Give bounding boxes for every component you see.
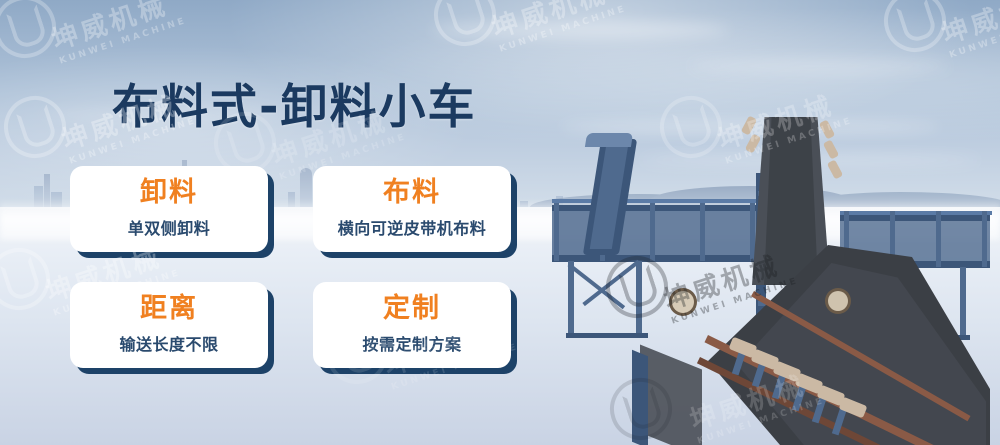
feature-card-customization[interactable]: 定制 按需定制方案 — [313, 282, 511, 368]
feature-card-subtitle: 单双侧卸料 — [128, 215, 211, 239]
feature-card-unloading[interactable]: 卸料 单双侧卸料 — [70, 166, 268, 252]
machine-photograph — [540, 95, 1000, 445]
feature-card-title: 布料 — [383, 179, 441, 207]
feature-card-subtitle: 输送长度不限 — [119, 331, 218, 355]
feature-card-title: 距离 — [140, 295, 198, 323]
feature-card-grid: 卸料 单双侧卸料 布料 横向可逆皮带机布料 距离 输送长度不限 定制 按需定制方… — [70, 166, 520, 368]
feature-card-title: 定制 — [383, 295, 441, 323]
product-banner: 布料式-卸料小车 卸料 单双侧卸料 布料 横向可逆皮带机布料 距离 输送长度不限… — [0, 0, 1000, 445]
feature-card-title: 卸料 — [140, 179, 198, 207]
cloud-streak — [690, 60, 950, 72]
cloud-streak — [430, 22, 730, 38]
feature-card-distribution[interactable]: 布料 横向可逆皮带机布料 — [313, 166, 511, 252]
page-title: 布料式-卸料小车 — [112, 68, 477, 137]
feature-card-distance[interactable]: 距离 输送长度不限 — [70, 282, 268, 368]
feature-card-subtitle: 横向可逆皮带机布料 — [338, 215, 487, 239]
feature-card-subtitle: 按需定制方案 — [362, 331, 461, 355]
